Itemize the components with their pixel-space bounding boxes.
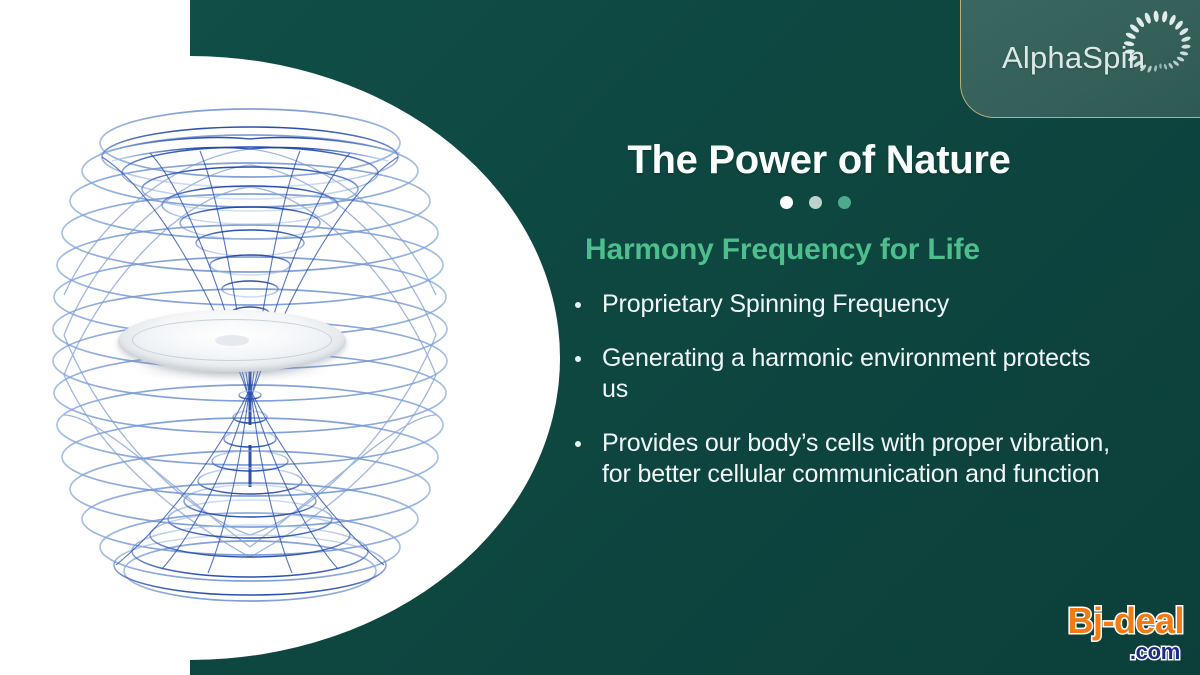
disc-center: [215, 335, 249, 346]
bullet-text: Generating a harmonic environment protec…: [602, 343, 1112, 406]
watermark-domain: .com: [1067, 641, 1180, 663]
page-title: The Power of Nature: [575, 138, 1165, 183]
bullet-dot-icon: [575, 441, 584, 447]
divider-dot-3: [838, 196, 851, 209]
content-column: The Power of Nature Harmony Frequency fo…: [575, 138, 1165, 513]
list-item: Generating a harmonic environment protec…: [575, 343, 1165, 406]
bullet-dot-icon: [575, 302, 584, 308]
divider-dot-1: [780, 196, 793, 209]
brand-logo: AlphaSpin: [960, 0, 1200, 118]
bullet-dot-icon: [575, 356, 584, 362]
bullet-text: Proprietary Spinning Frequency: [602, 289, 949, 321]
divider-dot-2: [809, 196, 822, 209]
page-subtitle: Harmony Frequency for Life: [575, 233, 1165, 267]
slide-canvas: AlphaSpin: [0, 0, 1200, 675]
feature-bullet-list: Proprietary Spinning Frequency Generatin…: [575, 289, 1165, 491]
spiral-dots-icon: [1118, 8, 1200, 90]
list-item: Provides our body’s cells with proper vi…: [575, 428, 1165, 491]
alphaspin-disc-device: [118, 310, 346, 372]
bullet-text: Provides our body’s cells with proper vi…: [602, 428, 1112, 491]
watermark-brand: Bj-deal: [1067, 603, 1184, 639]
list-item: Proprietary Spinning Frequency: [575, 289, 1165, 321]
watermark: Bj-deal .com: [1067, 603, 1184, 663]
divider-dots: [575, 196, 1165, 209]
